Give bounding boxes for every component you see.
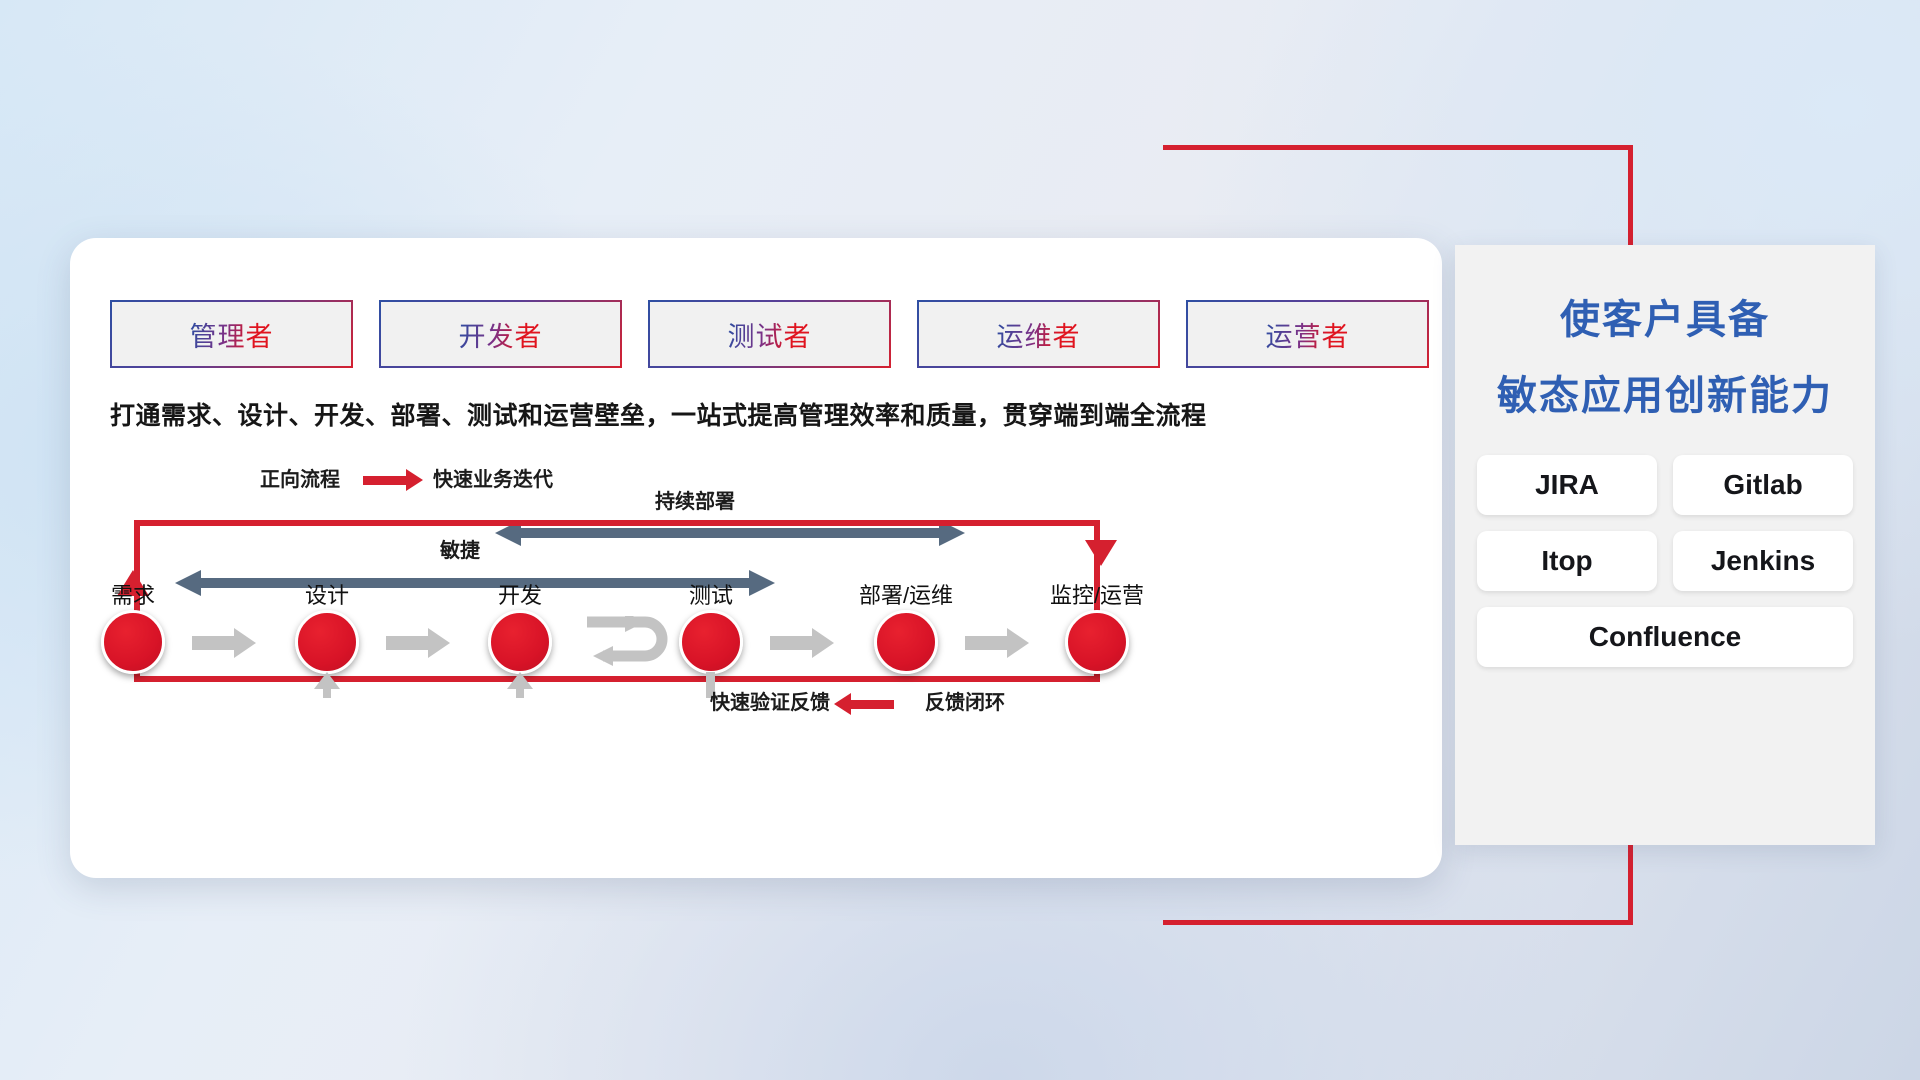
role-box-manager[interactable]: 管理者 (110, 300, 353, 368)
forward-process-label: 正向流程 (260, 463, 340, 492)
stage-label-requirement: 需求 (111, 578, 155, 610)
stage-label-deploy-ops: 部署/运维 (859, 578, 953, 610)
fast-verification-feedback-label: 快速验证反馈 (710, 686, 830, 715)
stage-node-monitor-operation[interactable] (1065, 610, 1129, 674)
tool-chip-itop[interactable]: Itop (1477, 531, 1657, 591)
forward-red-arrow-icon (363, 476, 407, 485)
tool-label: JIRA (1535, 469, 1599, 501)
stage-label-test: 测试 (689, 578, 733, 610)
pipeline-arrow-icon (386, 626, 450, 660)
dev-test-loop-arrow-icon (573, 616, 678, 674)
role-label: 运维者 (997, 315, 1081, 354)
feedback-tick-icon (504, 672, 536, 698)
pipeline-arrow-icon (965, 626, 1029, 660)
tool-label: Gitlab (1723, 469, 1802, 501)
tool-label: Itop (1541, 545, 1592, 577)
description-text: 打通需求、设计、开发、部署、测试和运营壁垒，一站式提高管理效率和质量，贯穿端到端… (110, 396, 1410, 432)
role-box-row: 管理者 开发者 测试者 运维者 运营者 (110, 300, 1429, 368)
main-card: 管理者 开发者 测试者 运维者 运营者 打通需求、设计、开发、部署、测试和运营壁… (70, 238, 1442, 878)
role-box-developer[interactable]: 开发者 (379, 300, 622, 368)
stage-node-design[interactable] (295, 610, 359, 674)
fast-business-iteration-label: 快速业务迭代 (433, 463, 553, 492)
stage-label-monitor-operation: 监控/运营 (1050, 578, 1144, 610)
tool-label: Jenkins (1711, 545, 1815, 577)
tool-chip-gitlab[interactable]: Gitlab (1673, 455, 1853, 515)
stage-node-deploy-ops[interactable] (874, 610, 938, 674)
role-label: 测试者 (728, 315, 812, 354)
pipeline-arrow-icon (770, 626, 834, 660)
panel-title-line1: 使客户具备 (1455, 245, 1875, 345)
tool-chip-list: JIRA Gitlab Itop Jenkins Confluence (1455, 421, 1875, 667)
right-panel: 使客户具备 敏态应用创新能力 JIRA Gitlab Itop Jenkins … (1455, 245, 1875, 845)
stage-node-development[interactable] (488, 610, 552, 674)
stage-node-test[interactable] (679, 610, 743, 674)
stage-label-design: 设计 (305, 578, 349, 610)
role-box-operator[interactable]: 运营者 (1186, 300, 1429, 368)
role-label: 开发者 (459, 315, 543, 354)
panel-title-line2: 敏态应用创新能力 (1455, 345, 1875, 421)
pipeline-arrow-icon (192, 626, 256, 660)
feedback-red-arrow-icon (850, 700, 894, 709)
stage-label-development: 开发 (498, 578, 542, 610)
tool-label: Confluence (1589, 621, 1741, 653)
continuous-deployment-label: 持续部署 (655, 485, 735, 514)
tool-chip-jenkins[interactable]: Jenkins (1673, 531, 1853, 591)
feedback-loop-label: 反馈闭环 (925, 686, 1005, 715)
role-label: 运营者 (1266, 315, 1350, 354)
role-label: 管理者 (190, 315, 274, 354)
role-box-tester[interactable]: 测试者 (648, 300, 891, 368)
tool-chip-confluence[interactable]: Confluence (1477, 607, 1853, 667)
tool-chip-jira[interactable]: JIRA (1477, 455, 1657, 515)
stage-node-requirement[interactable] (101, 610, 165, 674)
loop-down-arrowhead-icon (1081, 534, 1121, 568)
role-box-ops[interactable]: 运维者 (917, 300, 1160, 368)
feedback-tick-icon (311, 672, 343, 698)
